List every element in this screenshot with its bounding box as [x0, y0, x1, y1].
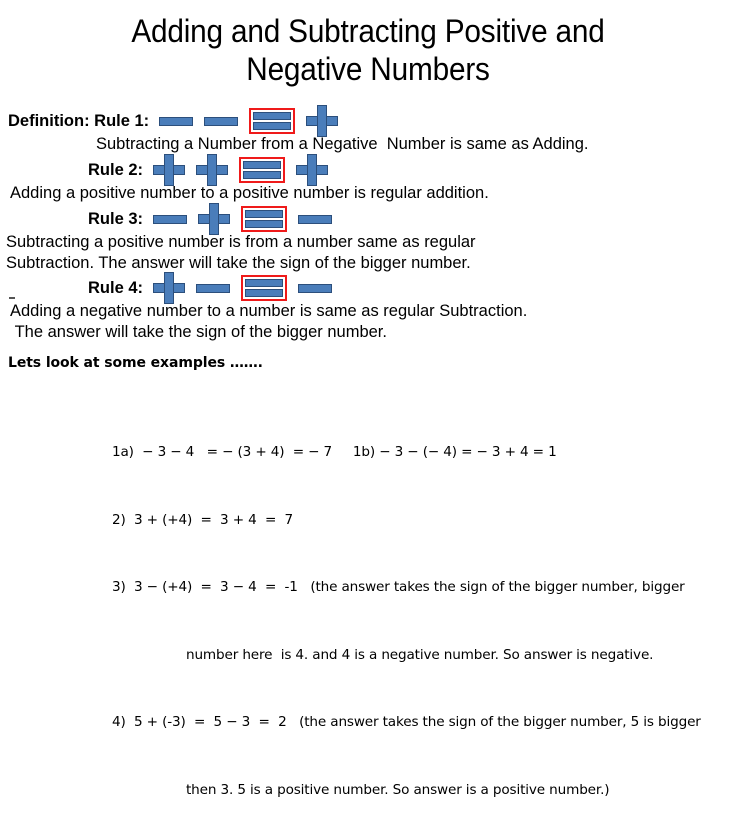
rule-4-description: Adding a negative number to a number is … — [10, 301, 736, 343]
rule-block-4: Rule 4: Adding a negative number to a nu… — [0, 275, 736, 343]
rule-3-description: Subtracting a positive number is from a … — [6, 232, 736, 274]
rule-2-symbols — [153, 154, 328, 186]
rule-3-label: Rule 3: — [88, 209, 143, 229]
slide-title-line-1: Adding and Subtracting Positive and — [63, 12, 673, 50]
example-line-2: 2) 3 + (+4) = 3 + 4 = 7 — [112, 509, 736, 532]
rule-4-header: Rule 4: — [88, 275, 736, 301]
rule-block-3: Rule 3: Subtracting a positive number is… — [0, 206, 736, 274]
rule-3-header: Rule 3: — [88, 206, 736, 232]
plus-icon — [153, 154, 185, 186]
rule-1-description: Subtracting a Number from a Negative Num… — [8, 134, 736, 155]
rule-2-description: Adding a positive number to a positive n… — [10, 183, 736, 204]
rule-2-header: Rule 2: — [88, 157, 736, 183]
example-line-4-continuation: then 3. 5 is a positive number. So answe… — [112, 779, 736, 802]
equals-icon-highlighted — [249, 108, 295, 134]
rule-block-1: Definition: Rule 1: Subtracting a Number… — [0, 108, 736, 155]
minus-icon — [153, 215, 187, 224]
equals-icon-highlighted — [241, 275, 287, 301]
plus-icon — [306, 105, 338, 137]
examples-list: 1a) − 3 − 4 = − (3 + 4) = − 7 1b) − 3 − … — [112, 396, 736, 824]
rule-4-symbols — [153, 272, 332, 304]
minus-icon — [298, 284, 332, 293]
rule-2-label: Rule 2: — [88, 160, 143, 180]
rule-1-header: Definition: Rule 1: — [8, 108, 736, 134]
example-line-3: 3) 3 − (+4) = 3 − 4 = -1 (the answer tak… — [112, 576, 736, 599]
plus-icon — [296, 154, 328, 186]
rules-section: Definition: Rule 1: Subtracting a Number… — [0, 108, 736, 343]
rule-1-symbols — [159, 105, 338, 137]
slide-title: Adding and Subtracting Positive and Nega… — [26, 0, 710, 88]
minus-icon — [204, 117, 238, 126]
minus-icon — [196, 284, 230, 293]
slide-title-line-2: Negative Numbers — [63, 50, 673, 88]
stray-dash-mark — [9, 297, 15, 299]
equals-icon-highlighted — [241, 206, 287, 232]
equals-icon-highlighted — [239, 157, 285, 183]
minus-icon — [298, 215, 332, 224]
rule-4-label: Rule 4: — [88, 278, 143, 298]
minus-icon — [159, 117, 193, 126]
rule-1-label: Definition: Rule 1: — [8, 111, 149, 131]
example-line-3-continuation: number here is 4. and 4 is a negative nu… — [112, 644, 736, 667]
example-line-1: 1a) − 3 − 4 = − (3 + 4) = − 7 1b) − 3 − … — [112, 441, 736, 464]
rule-3-symbols — [153, 203, 332, 235]
plus-icon — [153, 272, 185, 304]
plus-icon — [196, 154, 228, 186]
example-line-4: 4) 5 + (-3) = 5 − 3 = 2 (the answer take… — [112, 711, 736, 734]
plus-icon — [198, 203, 230, 235]
rule-block-2: Rule 2: Adding a positive number to a po… — [0, 157, 736, 204]
examples-heading: Lets look at some examples ……. — [8, 355, 263, 371]
